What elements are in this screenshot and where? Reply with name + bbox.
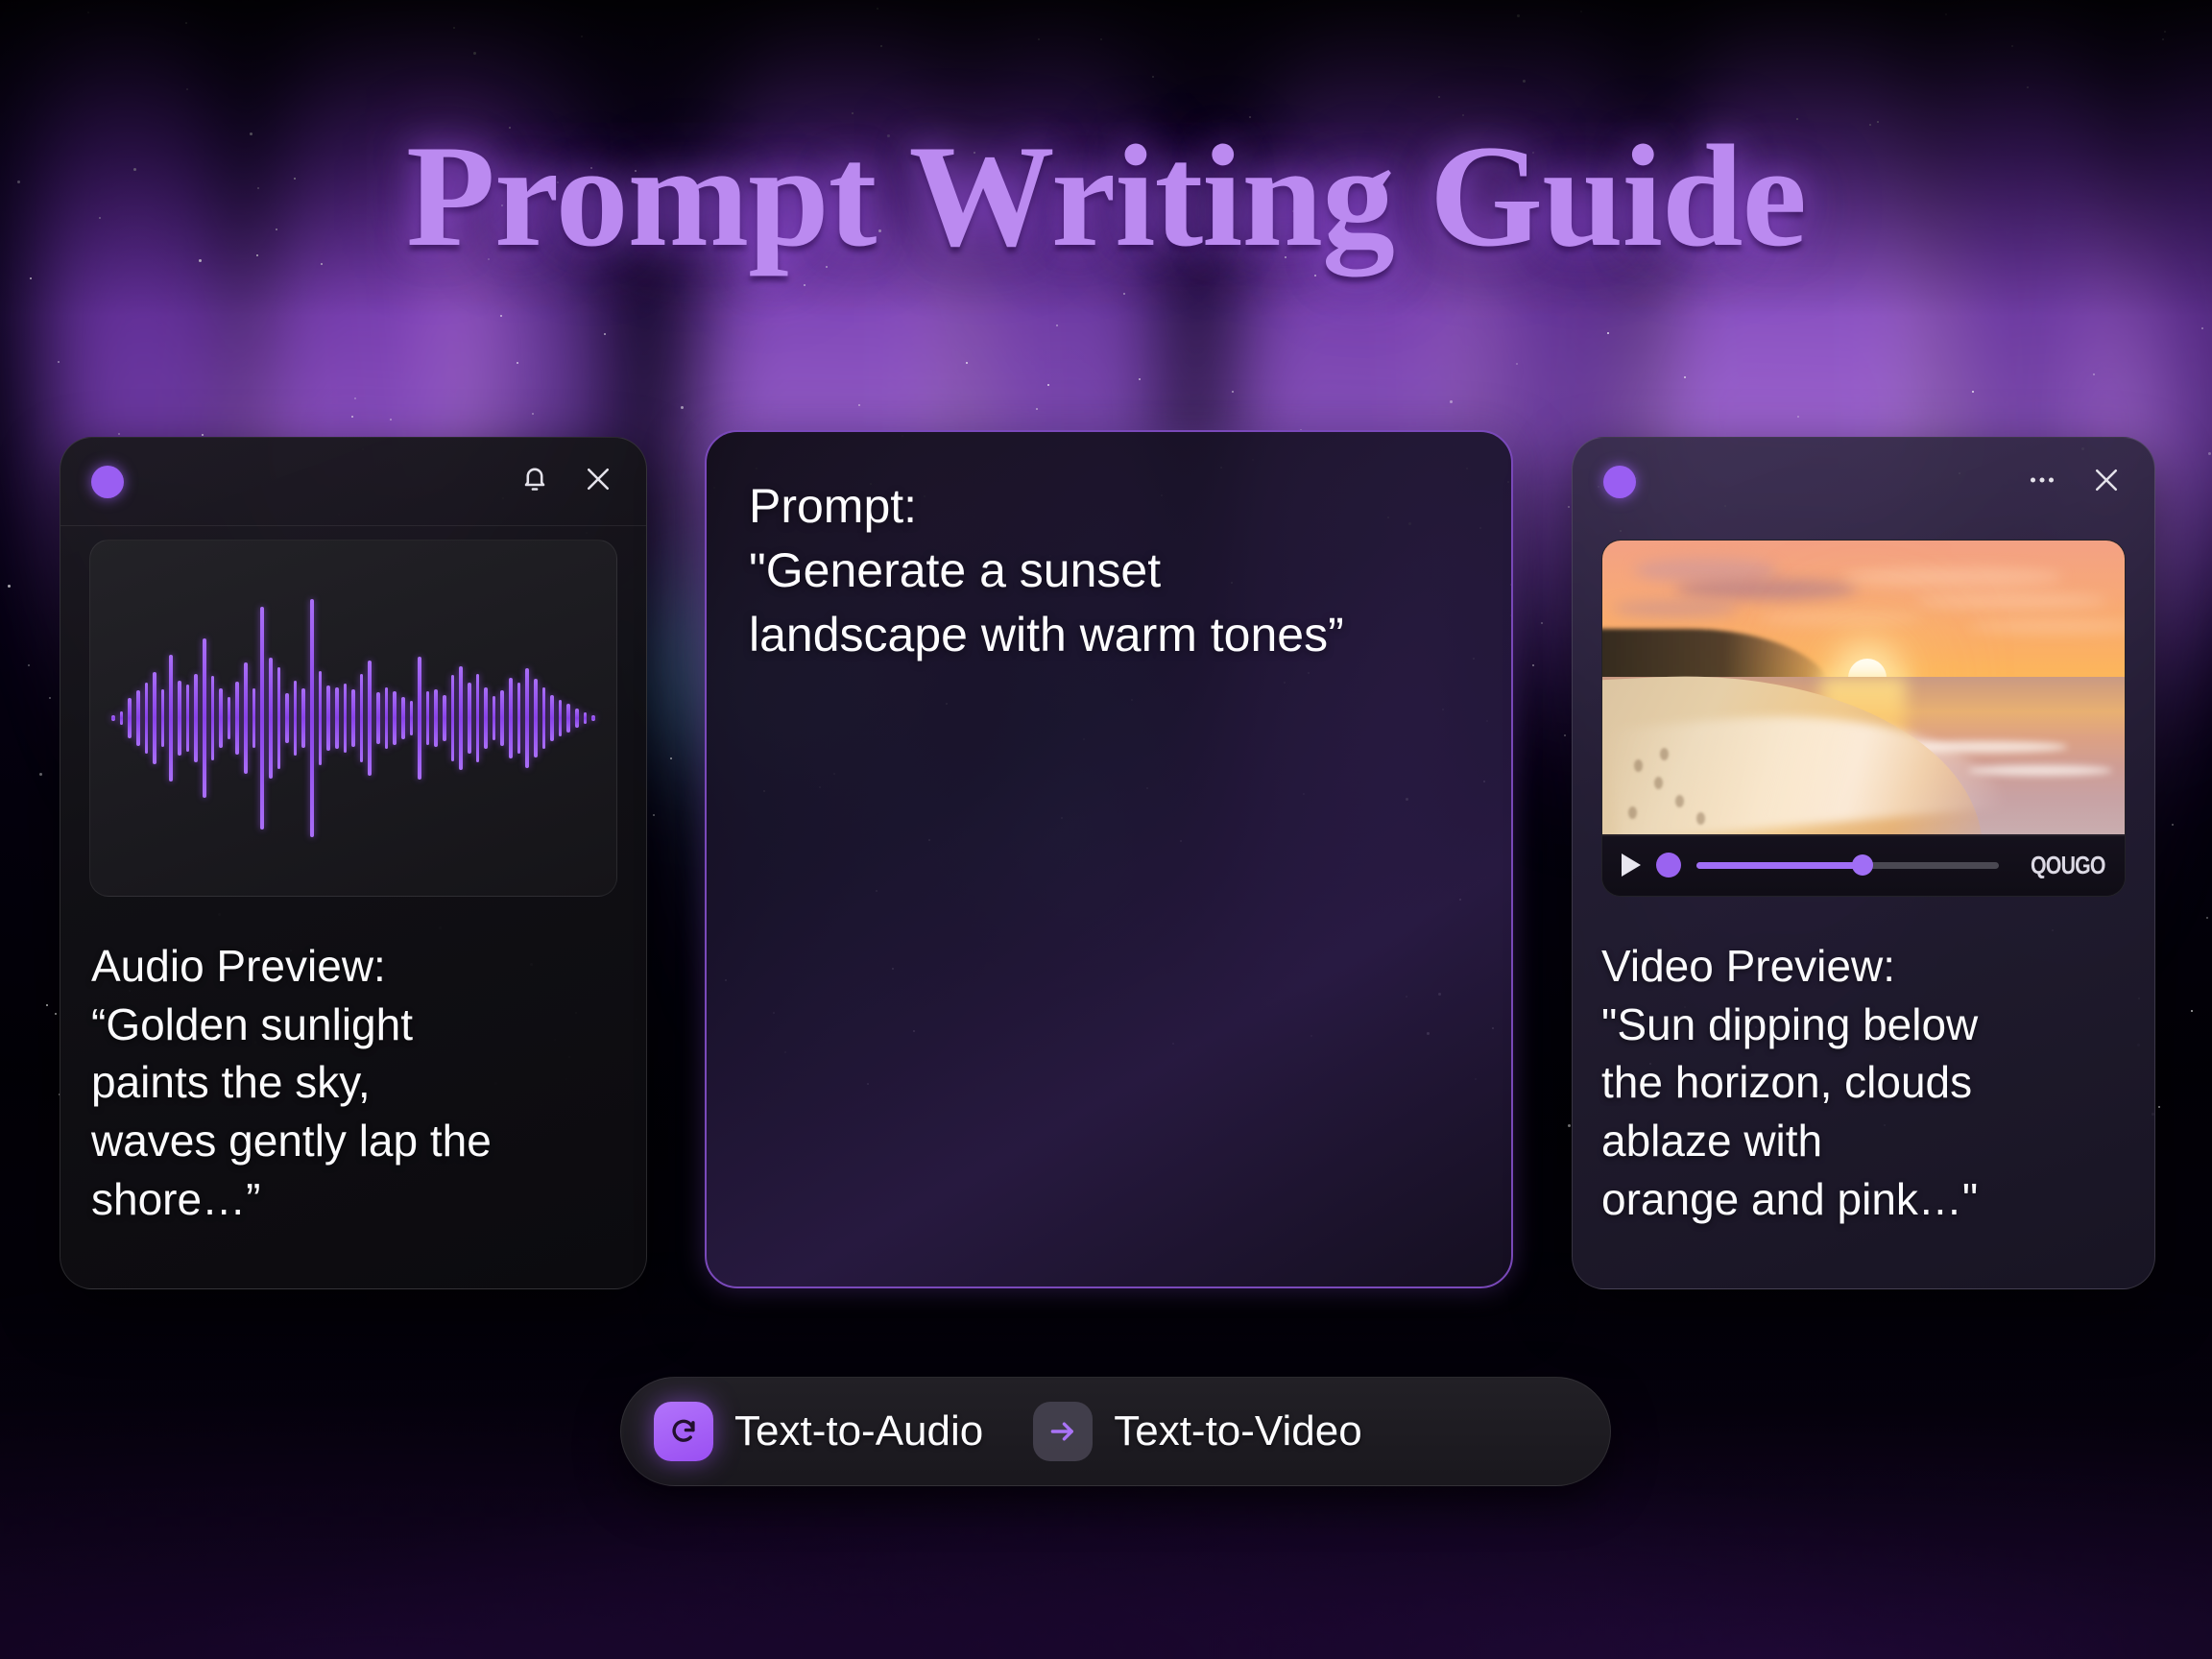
audio-card-header bbox=[60, 438, 646, 526]
waveform-bar bbox=[128, 698, 132, 738]
waveform-bar bbox=[326, 685, 330, 751]
audio-preview-caption: Audio Preview: “Golden sunlight paints t… bbox=[91, 937, 621, 1229]
waveform-bar bbox=[310, 599, 314, 837]
waveform-bar bbox=[285, 693, 289, 743]
page-title: Prompt Writing Guide bbox=[0, 123, 2212, 269]
record-dot-icon[interactable] bbox=[1656, 853, 1681, 878]
status-dot bbox=[1603, 466, 1636, 498]
waveform-bar bbox=[542, 687, 546, 749]
poster-canvas: Prompt Writing Guide bbox=[0, 0, 2212, 1659]
waveform-bar bbox=[451, 675, 455, 761]
player-logo: QOUGO bbox=[2031, 851, 2105, 880]
waveform-bar bbox=[335, 687, 339, 749]
waveform-bar bbox=[111, 715, 115, 721]
waveform-bar bbox=[418, 657, 421, 780]
waveform-bar bbox=[385, 687, 389, 749]
waveform-bar bbox=[393, 691, 397, 745]
waveform-bar bbox=[509, 678, 513, 758]
waveform-bar bbox=[566, 704, 570, 733]
waveform-bar bbox=[493, 696, 496, 740]
waveform-bar bbox=[161, 689, 165, 747]
waveform-bar bbox=[203, 638, 206, 798]
waveform-bar bbox=[484, 687, 488, 749]
waveform-bar bbox=[468, 683, 471, 754]
waveform-bar bbox=[186, 685, 190, 752]
waveform-bar bbox=[344, 684, 348, 753]
waveform-bar bbox=[517, 683, 521, 754]
waveform-bar bbox=[145, 683, 149, 754]
waveform-bar bbox=[301, 688, 305, 748]
refresh-cycle-icon bbox=[654, 1402, 713, 1461]
waveform-bar bbox=[410, 701, 414, 735]
progress-fill bbox=[1696, 862, 1863, 869]
waveform-bar bbox=[351, 689, 355, 747]
prompt-text: Prompt: "Generate a sunset landscape wit… bbox=[749, 474, 1473, 667]
waveform-bar bbox=[211, 676, 215, 760]
waveform-bar bbox=[559, 700, 563, 736]
close-icon[interactable] bbox=[581, 462, 615, 501]
text-to-video-label: Text-to-Video bbox=[1114, 1407, 1361, 1455]
waveform-bar bbox=[550, 695, 554, 741]
waveform-bar bbox=[136, 690, 140, 746]
waveform-bar bbox=[443, 695, 446, 741]
waveform-bar bbox=[575, 709, 579, 728]
waveform-bar bbox=[476, 674, 480, 762]
waveform-bar bbox=[459, 666, 463, 770]
audio-waveform-panel bbox=[89, 540, 617, 897]
waveform-bar bbox=[153, 672, 156, 764]
waveform-bar bbox=[584, 712, 588, 724]
waveform-bar bbox=[260, 607, 264, 829]
progress-knob[interactable] bbox=[1852, 854, 1873, 876]
status-dot bbox=[91, 466, 124, 498]
waveform-bar bbox=[534, 679, 538, 757]
audio-preview-card: Audio Preview: “Golden sunlight paints t… bbox=[60, 437, 647, 1289]
waveform-bar bbox=[319, 671, 323, 765]
waveform-bar bbox=[368, 661, 372, 776]
sunset-beach-thumbnail bbox=[1602, 541, 2125, 836]
waveform-bar bbox=[252, 688, 256, 748]
waveform-bar bbox=[500, 690, 504, 746]
video-player[interactable]: QOUGO bbox=[1601, 540, 2126, 897]
waveform-bar bbox=[219, 688, 223, 748]
text-to-video-button[interactable]: Text-to-Video bbox=[1033, 1402, 1361, 1461]
video-preview-card: QOUGO Video Preview: "Sun dipping below … bbox=[1572, 437, 2155, 1289]
waveform-bar bbox=[169, 655, 173, 781]
waveform-bar bbox=[120, 711, 124, 725]
more-icon[interactable] bbox=[2024, 462, 2060, 503]
waveform-bar bbox=[277, 667, 281, 769]
waveform-bar bbox=[525, 668, 529, 768]
waveform-bar bbox=[434, 689, 438, 747]
video-controls[interactable]: QOUGO bbox=[1602, 834, 2125, 896]
arrow-right-icon bbox=[1033, 1402, 1093, 1461]
waveform-bar bbox=[244, 662, 248, 774]
progress-slider[interactable] bbox=[1696, 862, 1999, 869]
close-icon[interactable] bbox=[2089, 463, 2124, 502]
video-card-header bbox=[1573, 438, 2154, 526]
waveform-bar bbox=[376, 692, 380, 744]
waveform-bar bbox=[178, 681, 181, 756]
waveform-bar bbox=[401, 697, 405, 739]
waveform-bar bbox=[269, 658, 273, 779]
bell-icon[interactable] bbox=[517, 462, 552, 501]
waveform-bar bbox=[194, 674, 198, 762]
text-to-audio-label: Text-to-Audio bbox=[734, 1407, 983, 1455]
prompt-card: Prompt: "Generate a sunset landscape wit… bbox=[705, 430, 1513, 1288]
play-icon[interactable] bbox=[1622, 854, 1641, 877]
audio-waveform bbox=[111, 541, 595, 896]
waveform-bar bbox=[360, 674, 364, 762]
text-to-audio-button[interactable]: Text-to-Audio bbox=[654, 1402, 983, 1461]
video-preview-caption: Video Preview: "Sun dipping below the ho… bbox=[1601, 937, 2137, 1229]
waveform-bar bbox=[228, 697, 231, 739]
waveform-bar bbox=[591, 715, 595, 721]
mode-toolbar: Text-to-Audio Text-to-Video bbox=[620, 1377, 1611, 1486]
waveform-bar bbox=[294, 681, 298, 756]
waveform-bar bbox=[426, 691, 430, 745]
waveform-bar bbox=[235, 682, 239, 755]
